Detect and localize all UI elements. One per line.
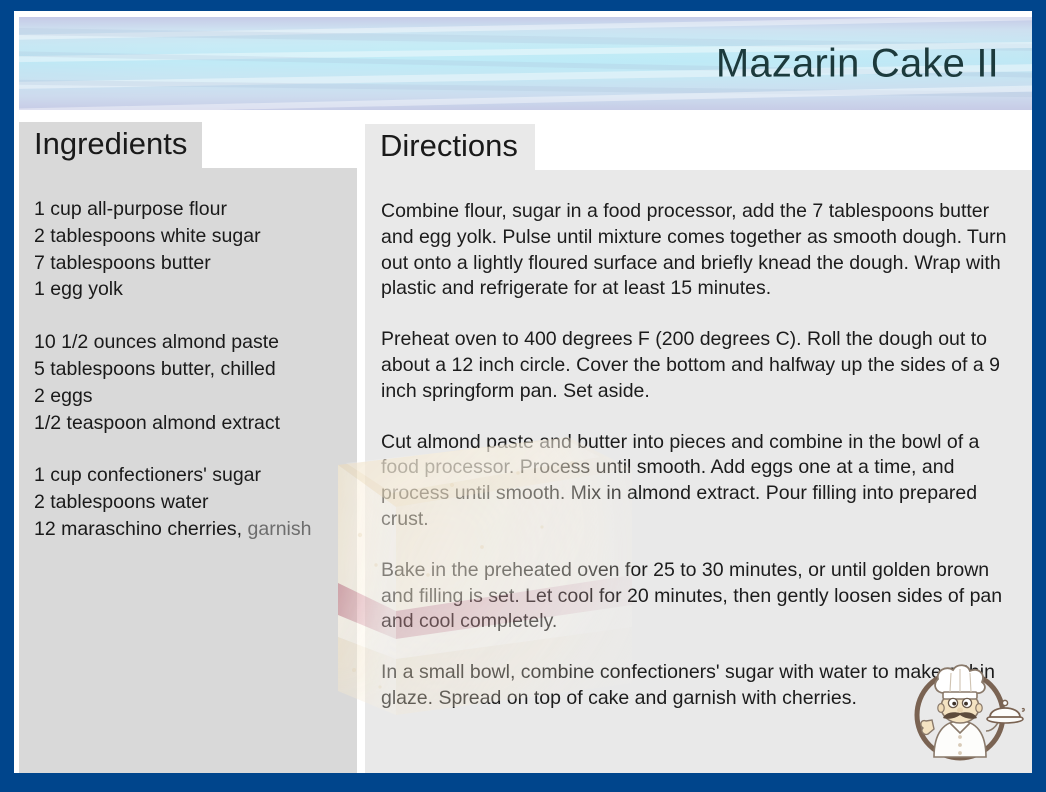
list-item: 12 maraschino cherries, garnish	[34, 516, 354, 543]
direction-step: Combine flour, sugar in a food processor…	[381, 199, 1021, 302]
ingredients-tab: Ingredients	[19, 122, 202, 169]
list-item: 1 cup confectioners' sugar	[34, 462, 354, 489]
list-item-text: 12 maraschino cherries,	[34, 518, 248, 540]
ingredients-list: 1 cup all-purpose flour 2 tablespoons wh…	[34, 196, 354, 569]
direction-step: In a small bowl, combine confectioners' …	[381, 660, 1021, 712]
list-item: 1 egg yolk	[34, 276, 354, 303]
ingredient-group: 10 1/2 ounces almond paste 5 tablespoons…	[34, 329, 354, 436]
list-item: 5 tablespoons butter, chilled	[34, 356, 354, 383]
list-item: 2 tablespoons white sugar	[34, 223, 354, 250]
list-item: 1/2 teaspoon almond extract	[34, 410, 354, 437]
card-inner-surface: Mazarin Cake II Ingredients 1 cup all-pu…	[14, 11, 1032, 773]
list-item: 7 tablespoons butter	[34, 250, 354, 277]
ingredients-heading: Ingredients	[34, 126, 187, 162]
ingredient-group: 1 cup all-purpose flour 2 tablespoons wh…	[34, 196, 354, 303]
directions-tab: Directions	[365, 124, 535, 171]
ingredients-panel: 1 cup all-purpose flour 2 tablespoons wh…	[19, 168, 357, 773]
directions-panel: Combine flour, sugar in a food processor…	[365, 170, 1032, 773]
directions-heading: Directions	[380, 128, 518, 164]
page-title: Mazarin Cake II	[716, 41, 999, 86]
list-item: 1 cup all-purpose flour	[34, 196, 354, 223]
list-item-note: garnish	[248, 518, 312, 540]
direction-step: Bake in the preheated oven for 25 to 30 …	[381, 558, 1021, 635]
header-banner: Mazarin Cake II	[19, 17, 1032, 110]
direction-step: Cut almond paste and butter into pieces …	[381, 430, 1021, 533]
list-item: 2 eggs	[34, 383, 354, 410]
directions-steps: Combine flour, sugar in a food processor…	[381, 199, 1021, 737]
list-item: 10 1/2 ounces almond paste	[34, 329, 354, 356]
direction-step: Preheat oven to 400 degrees F (200 degre…	[381, 327, 1021, 404]
list-item: 2 tablespoons water	[34, 489, 354, 516]
recipe-card: Mazarin Cake II Ingredients 1 cup all-pu…	[0, 0, 1046, 792]
ingredient-group: 1 cup confectioners' sugar 2 tablespoons…	[34, 462, 354, 542]
